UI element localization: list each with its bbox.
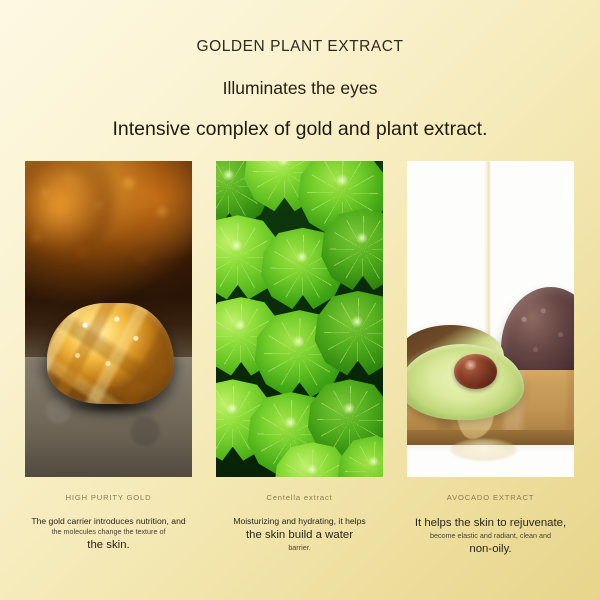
centella-leaves-photo (216, 161, 383, 477)
avocado-pit (454, 354, 497, 389)
ingredient-description-line: Moisturizing and hydrating, it helps (216, 515, 383, 527)
page-kicker: GOLDEN PLANT EXTRACT (0, 38, 600, 56)
ingredient-description-line: the skin build a water (216, 527, 383, 543)
avocado-oil-photo (407, 161, 574, 477)
ingredient-caption-row: HIGH PURITY GOLD The gold carrier introd… (25, 493, 576, 558)
ingredient-description-line: the skin. (25, 537, 192, 553)
ingredient-description-line: It helps the skin to rejuvenate, (407, 515, 574, 531)
caption-column-gold: HIGH PURITY GOLD The gold carrier introd… (25, 493, 192, 558)
ingredient-description-line: non-oily. (407, 541, 574, 557)
gold-nugget (47, 303, 174, 404)
gold-nugget-photo (25, 161, 192, 477)
promo-page: { "headings": { "kicker": "GOLDEN PLANT … (0, 0, 600, 600)
ingredient-description-line: the molecules change the texture of (25, 527, 192, 537)
page-lead: Intensive complex of gold and plant extr… (0, 118, 600, 141)
ingredient-description-line: The gold carrier introduces nutrition, a… (25, 515, 192, 527)
ingredient-image-row (25, 161, 576, 477)
ingredient-description-line: barrier. (216, 543, 383, 553)
headings-block: GOLDEN PLANT EXTRACT Illuminates the eye… (0, 0, 600, 141)
ingredient-label: Centella extract (216, 493, 383, 502)
page-subtitle: Illuminates the eyes (0, 78, 600, 99)
ingredient-label: HIGH PURITY GOLD (25, 493, 192, 502)
ingredient-description-line: become elastic and radiant, clean and (407, 531, 574, 541)
caption-column-centella: Centella extract Moisturizing and hydrat… (216, 493, 383, 558)
caption-column-avocado: AVOCADO EXTRACT It helps the skin to rej… (407, 493, 574, 558)
ingredient-label: AVOCADO EXTRACT (407, 493, 574, 502)
